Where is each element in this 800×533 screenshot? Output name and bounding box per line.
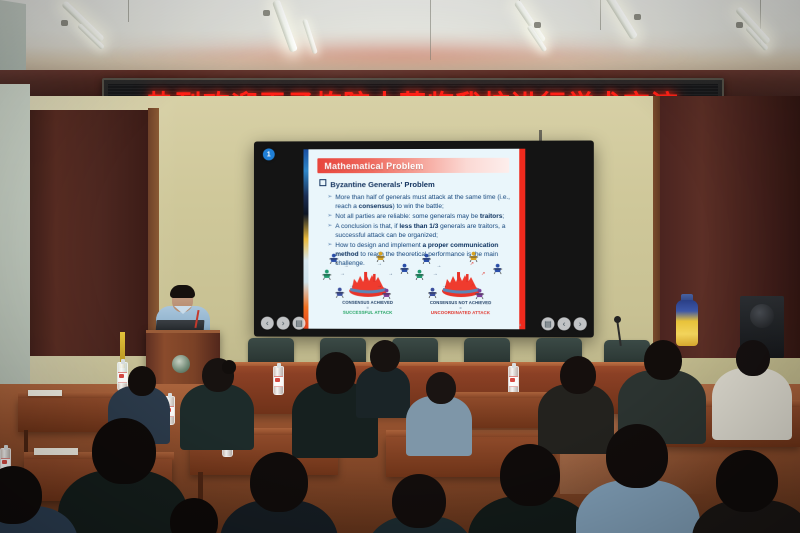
general-icon bbox=[381, 288, 392, 301]
diverging-arrow-icon: ↗ bbox=[470, 283, 474, 289]
light-hanger-wire bbox=[430, 0, 431, 60]
diverging-arrow-icon: ↗ bbox=[470, 261, 474, 267]
chevron-left-icon[interactable]: ‹ bbox=[261, 317, 274, 330]
presenter-hair bbox=[170, 285, 195, 298]
chevron-right-icon[interactable]: › bbox=[574, 317, 587, 330]
light-fixture-cap bbox=[634, 14, 641, 20]
light-fixture-cap bbox=[534, 22, 541, 28]
light-hanger-wire bbox=[128, 0, 129, 22]
general-icon bbox=[474, 288, 485, 301]
left-wood-door-panel[interactable] bbox=[30, 110, 148, 356]
arrow-bullet-icon: ➢ bbox=[327, 222, 335, 240]
ceiling bbox=[0, 0, 800, 74]
slide-page-badge: 1 bbox=[263, 148, 275, 160]
projection-screen[interactable]: 1 Mathematical Problem Byzantine General… bbox=[254, 140, 594, 337]
attack-arrow-icon: → bbox=[436, 263, 441, 269]
arrow-bullet-icon: ➢ bbox=[327, 193, 335, 211]
diagram-caption: CONSENSUS ACHIEVED=SUCCESSFUL ATTACK bbox=[321, 300, 414, 315]
attack-arrow-icon: → bbox=[377, 261, 382, 267]
slide-bullet-text: More than half of generals must attack a… bbox=[335, 193, 517, 212]
diagram-caption: CONSENSUS NOT ACHIEVED=UNCOORDINATED ATT… bbox=[414, 300, 507, 315]
person-head bbox=[606, 424, 668, 488]
person-head bbox=[736, 340, 770, 376]
slide-decorative-strip bbox=[303, 149, 308, 328]
slide-bullet-item: ➢A conclusion is that, if less than 1/3 … bbox=[327, 222, 517, 240]
general-icon bbox=[427, 287, 438, 300]
person-body bbox=[180, 384, 254, 450]
person-head bbox=[316, 352, 356, 394]
decorative-vase bbox=[676, 300, 698, 346]
attack-arrow-icon: → bbox=[344, 263, 349, 269]
general-icon bbox=[329, 253, 340, 266]
byzantine-generals-diagram: →→→→→→CONSENSUS ACHIEVED=SUCCESSFUL ATTA… bbox=[321, 253, 414, 313]
caption-result: SUCCESSFUL ATTACK bbox=[321, 310, 414, 315]
screen-nav-left[interactable]: ‹›▤ bbox=[261, 317, 306, 330]
light-fixture-cap bbox=[263, 10, 270, 16]
person-body bbox=[406, 396, 472, 456]
attack-arrow-icon: → bbox=[340, 271, 345, 277]
slide-bullet-text: Not all parties are reliable: some gener… bbox=[335, 212, 504, 221]
light-fixture-cap bbox=[736, 22, 743, 28]
traitor-general-icon bbox=[492, 263, 503, 276]
presentation-slide: Mathematical Problem Byzantine Generals'… bbox=[303, 149, 525, 330]
general-icon bbox=[321, 269, 332, 282]
person-head bbox=[250, 452, 308, 512]
checkbox-bullet-icon bbox=[319, 179, 326, 186]
attack-arrow-icon: → bbox=[442, 283, 447, 289]
general-icon bbox=[399, 263, 410, 276]
arrow-bullet-icon: ➢ bbox=[327, 212, 335, 221]
person-head bbox=[370, 340, 400, 372]
traitor-general-icon bbox=[421, 253, 432, 266]
paper-sheet bbox=[28, 390, 62, 396]
person-body bbox=[538, 384, 614, 454]
speaker-cone bbox=[750, 304, 774, 328]
person-head bbox=[560, 356, 596, 394]
light-hanger-wire bbox=[600, 0, 601, 30]
water-bottle bbox=[273, 366, 284, 395]
person-hair-bun bbox=[222, 360, 236, 374]
bottle-label-mark bbox=[2, 460, 7, 464]
attack-arrow-icon: → bbox=[433, 271, 438, 277]
person-head bbox=[426, 372, 456, 404]
slide-diagram-row: →→→→→→CONSENSUS ACHIEVED=SUCCESSFUL ATTA… bbox=[321, 253, 507, 313]
bottle-label-mark bbox=[510, 378, 515, 382]
person-head bbox=[392, 474, 446, 528]
chevron-right-icon[interactable]: › bbox=[277, 317, 290, 330]
slide-page-number: 4 bbox=[519, 322, 521, 327]
slide-title-text: Mathematical Problem bbox=[317, 160, 423, 170]
lecture-hall-photo: 热烈欢迎王子栋院士莅临我校进行学术交流 1 Mathematical Probl… bbox=[0, 0, 800, 533]
caption-result: UNCOORDINATED ATTACK bbox=[414, 310, 507, 315]
person-body bbox=[712, 368, 792, 440]
screen-nav-right[interactable]: ▤‹› bbox=[541, 317, 586, 330]
person-body bbox=[356, 366, 410, 418]
light-fixture-cap bbox=[61, 20, 68, 26]
table-microphone-head bbox=[614, 316, 621, 323]
slide-subtitle: Byzantine Generals' Problem bbox=[319, 179, 434, 189]
byzantine-generals-diagram: →↗→↗→↗CONSENSUS NOT ACHIEVED=UNCOORDINAT… bbox=[414, 253, 507, 313]
slide-right-accent-bar bbox=[519, 149, 525, 330]
diverging-arrow-icon: ↗ bbox=[481, 271, 485, 277]
person-head bbox=[500, 444, 560, 506]
bottle-label-mark bbox=[119, 374, 124, 378]
person-head bbox=[92, 418, 156, 484]
attack-arrow-icon: → bbox=[349, 283, 354, 289]
screen-options-icon[interactable]: ▤ bbox=[293, 317, 306, 330]
attack-arrow-icon: → bbox=[388, 271, 393, 277]
led-glow-reflection bbox=[0, 38, 800, 72]
general-icon bbox=[334, 286, 345, 299]
attack-arrow-icon: → bbox=[377, 283, 382, 289]
person-head bbox=[128, 366, 156, 396]
chevron-left-icon[interactable]: ‹ bbox=[558, 317, 571, 330]
bottle-label-mark bbox=[275, 378, 280, 382]
person-head bbox=[716, 450, 778, 512]
slide-bullet-item: ➢More than half of generals must attack … bbox=[327, 193, 517, 212]
slide-bullet-item: ➢Not all parties are reliable: some gene… bbox=[327, 212, 517, 221]
general-icon bbox=[414, 269, 425, 282]
slide-bullet-text: A conclusion is that, if less than 1/3 g… bbox=[335, 222, 517, 240]
paper-sheet bbox=[34, 448, 78, 455]
slide-title-bar: Mathematical Problem bbox=[317, 158, 509, 173]
slide-subtitle-text: Byzantine Generals' Problem bbox=[330, 180, 434, 189]
water-bottle bbox=[508, 366, 519, 395]
person-head bbox=[644, 340, 682, 380]
screen-options-icon[interactable]: ▤ bbox=[541, 317, 554, 330]
podium-emblem bbox=[172, 355, 190, 373]
left-wall bbox=[0, 84, 30, 384]
